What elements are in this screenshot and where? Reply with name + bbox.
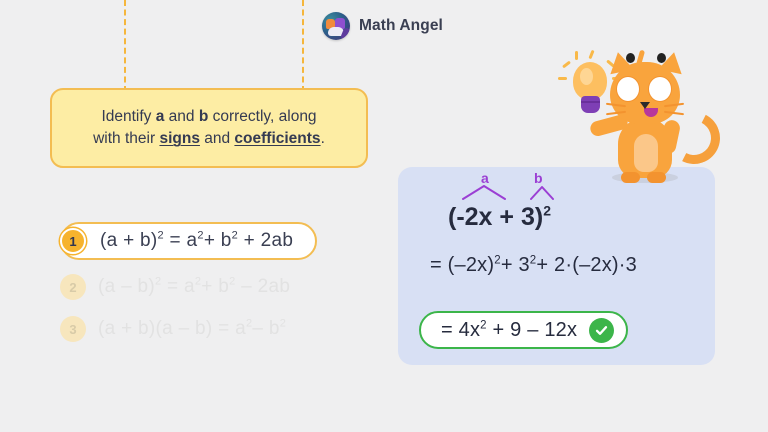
formula-expression: (a + b)(a – b) = a2– b2 (98, 318, 286, 340)
hint-emphasis-signs: signs (159, 130, 199, 147)
instruction-card: Identify a and b correctly, along with t… (50, 88, 368, 168)
hint-line2-mid: and (200, 130, 234, 147)
hint-line2-pre: with their (93, 130, 159, 147)
math-angel-cat-logo-icon (322, 12, 350, 40)
hint-var-b: b (199, 108, 208, 125)
formula-number-badge: 2 (60, 274, 86, 300)
formula-pill[interactable]: (a + b)(a – b) = a2– b2 (60, 310, 308, 348)
final-answer-box: = 4x2 + 9 – 12x (419, 311, 628, 349)
formula-number-badge: 1 (60, 228, 86, 254)
hint-emphasis-coefficients: coefficients (234, 130, 320, 147)
brand-header: Math Angel (322, 12, 443, 40)
hanging-string-left (124, 0, 126, 92)
brace-a-icon (461, 184, 507, 200)
problem-expression: (-2x + 3)2 (448, 203, 551, 232)
worked-example-panel: a b (-2x + 3)2 = (–2x)2+ 32+ 2·(–2x)·3 =… (398, 167, 715, 365)
instruction-text: Identify a and b correctly, along with t… (68, 106, 350, 151)
expansion-step: = (–2x)2+ 32+ 2·(–2x)·3 (430, 254, 637, 277)
formula-pill[interactable]: (a – b)2 = a2+ b2 – 2ab (60, 268, 312, 306)
brace-b-icon (529, 184, 555, 200)
hint-line1-mid: and (164, 108, 198, 125)
check-circle-icon (589, 318, 614, 343)
formula-number-badge: 3 (60, 316, 86, 342)
lightbulb-idea-icon (573, 62, 607, 100)
orange-cat-mascot (556, 44, 716, 189)
hint-line1-pre: Identify (101, 108, 155, 125)
formula-row[interactable]: 1 (a + b)2 = a2+ b2 + 2ab (60, 222, 317, 260)
hanging-string-right (302, 0, 304, 92)
hint-line1-post: correctly, along (208, 108, 316, 125)
formula-row[interactable]: 2 (a – b)2 = a2+ b2 – 2ab (60, 268, 312, 306)
final-answer-text: = 4x2 + 9 – 12x (441, 319, 577, 342)
formula-pill[interactable]: (a + b)2 = a2+ b2 + 2ab (60, 222, 317, 260)
formula-expression: (a + b)2 = a2+ b2 + 2ab (100, 230, 293, 252)
slide-canvas: Math Angel Identify a and b correctly, a… (0, 0, 768, 432)
brand-name: Math Angel (359, 17, 443, 35)
formula-expression: (a – b)2 = a2+ b2 – 2ab (98, 276, 290, 298)
hint-line2-post: . (321, 130, 325, 147)
formula-row[interactable]: 3 (a + b)(a – b) = a2– b2 (60, 310, 308, 348)
